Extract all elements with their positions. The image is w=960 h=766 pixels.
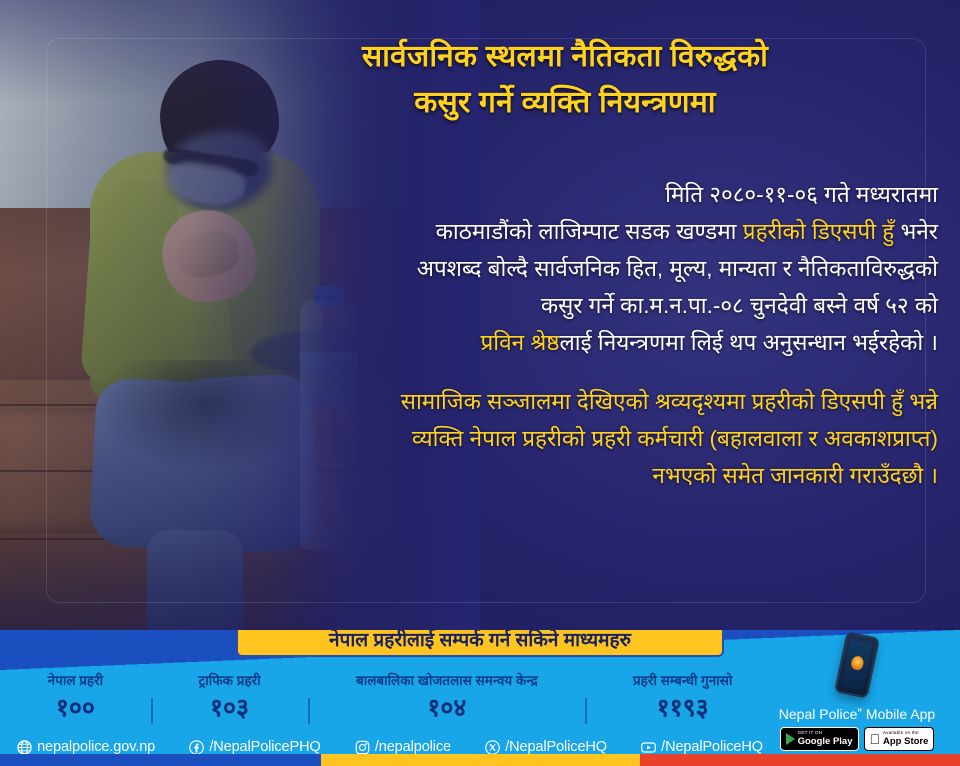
phone-mockup-icon: [834, 631, 880, 699]
notice-body: मिति २०८०-११-०६ गते मध्यरातमाकाठमाडौंको …: [178, 176, 960, 494]
instagram-icon: [355, 740, 370, 755]
contact-item: नेपाल प्रहरी१००: [0, 672, 151, 724]
app-store-badge[interactable]:  Available on the App Store: [864, 727, 935, 751]
social-link[interactable]: nepalpolice.gov.np: [0, 739, 172, 755]
contact-item: ट्राफिक प्रहरी१०३: [151, 672, 309, 724]
strip-segment: [321, 754, 641, 766]
social-link[interactable]: /NepalPoliceHQ: [624, 739, 780, 755]
strip-segment: [640, 754, 960, 766]
body-line: व्यक्ति नेपाल प्रहरीको प्रहरी कर्मचारी (…: [178, 420, 938, 457]
nepal-police-emblem-icon: [850, 655, 865, 671]
page-title: सार्वजनिक स्थलमा नैतिकता विरुद्धको कसुर …: [170, 34, 960, 126]
apple-icon: : [870, 732, 881, 746]
youtube-icon: [641, 740, 656, 755]
body-text: अपशब्द बोल्दै सार्वजनिक हित, मूल्य, मान्…: [417, 256, 938, 281]
globe-icon: [17, 740, 32, 755]
facebook-icon: [189, 740, 204, 755]
mobile-app-promo: Nepal Policeˮ Mobile App GET IT ON Googl…: [762, 630, 952, 766]
social-link[interactable]: /nepalpolice: [338, 739, 468, 755]
headline-line-2: कसुर गर्ने व्यक्ति नियन्त्रणमा: [170, 80, 960, 126]
headline-line-1: सार्वजनिक स्थलमा नैतिकता विरुद्धको: [170, 34, 960, 80]
body-line: कसुर गर्ने का.म.न.पा.-०८ चुनदेवी बस्ने व…: [178, 287, 938, 324]
app-store-label: App Store: [883, 737, 928, 747]
x-twitter-icon: [485, 740, 500, 755]
google-play-label: Google Play: [798, 737, 853, 747]
body-text: मिति २०८०-११-०६ गते मध्यरातमा: [665, 182, 938, 207]
contact-number[interactable]: १०४: [308, 692, 585, 724]
body-line: मिति २०८०-११-०६ गते मध्यरातमा: [178, 176, 938, 213]
contact-label: नेपाल प्रहरी: [0, 672, 151, 690]
contact-label: बालबालिका खोजतलास समन्वय केन्द्र: [308, 672, 585, 690]
highlighted-text: प्रहरीको डिएसपी हुँ: [743, 219, 894, 244]
social-handle: /NepalPoliceHQ: [505, 739, 607, 755]
body-line: काठमाडौंको लाजिम्पाट सडक खण्डमा प्रहरीको…: [178, 213, 938, 250]
body-text: लाई नियन्त्रणमा लिई थप अनुसन्धान भईरहेको…: [560, 330, 939, 355]
body-line: नभएको समेत जानकारी गराउँदछौ ।: [178, 457, 938, 494]
contact-item: प्रहरी सम्बन्धी गुनासो११९३: [585, 672, 780, 724]
google-play-icon: [786, 733, 795, 745]
body-line: अपशब्द बोल्दै सार्वजनिक हित, मूल्य, मान्…: [178, 250, 938, 287]
mobile-app-title: Nepal Policeˮ Mobile App: [762, 705, 952, 723]
social-link[interactable]: /NepalPolicePHQ: [172, 739, 338, 755]
contact-label: ट्राफिक प्रहरी: [151, 672, 309, 690]
contact-number[interactable]: १०३: [151, 692, 309, 724]
contact-band: नेपाल प्रहरीलाई सम्पर्क गर्न सकिने माध्य…: [0, 630, 960, 766]
body-text: कसुर गर्ने का.म.न.पा.-०८ चुनदेवी बस्ने व…: [541, 293, 938, 318]
body-line: सामाजिक सञ्जालमा देखिएको श्रव्यदृश्यमा प…: [178, 383, 938, 420]
poster-root: सार्वजनिक स्थलमा नैतिकता विरुद्धको कसुर …: [0, 0, 960, 766]
bottom-color-strip: [0, 754, 960, 766]
contact-number[interactable]: ११९३: [585, 692, 780, 724]
contact-numbers-list: नेपाल प्रहरी१००ट्राफिक प्रहरी१०३बालबालिक…: [0, 672, 780, 734]
highlighted-text: प्रविन श्रेष्ठ: [480, 330, 559, 355]
body-line: प्रविन श्रेष्ठलाई नियन्त्रणमा लिई थप अनु…: [178, 324, 938, 361]
app-store-badges: GET IT ON Google Play  Available on the…: [762, 727, 952, 751]
google-play-badge[interactable]: GET IT ON Google Play: [780, 727, 859, 751]
social-link[interactable]: /NepalPoliceHQ: [468, 739, 624, 755]
social-handle: /NepalPoliceHQ: [661, 739, 763, 755]
social-handle: /NepalPolicePHQ: [209, 739, 320, 755]
body-text: भनेर: [894, 219, 938, 244]
strip-segment: [0, 754, 321, 766]
contact-banner: नेपाल प्रहरीलाई सम्पर्क गर्न सकिने माध्य…: [236, 630, 724, 657]
social-handle: nepalpolice.gov.np: [37, 739, 155, 755]
paragraph-2: सामाजिक सञ्जालमा देखिएको श्रव्यदृश्यमा प…: [178, 383, 938, 494]
social-handle: /nepalpolice: [375, 739, 451, 755]
contact-number[interactable]: १००: [0, 692, 151, 724]
contact-banner-label: नेपाल प्रहरीलाई सम्पर्क गर्न सकिने माध्य…: [329, 631, 631, 650]
contact-label: प्रहरी सम्बन्धी गुनासो: [585, 672, 780, 690]
body-text: काठमाडौंको लाजिम्पाट सडक खण्डमा: [436, 219, 743, 244]
contact-item: बालबालिका खोजतलास समन्वय केन्द्र१०४: [308, 672, 585, 724]
paragraph-1: मिति २०८०-११-०६ गते मध्यरातमाकाठमाडौंको …: [178, 176, 938, 361]
